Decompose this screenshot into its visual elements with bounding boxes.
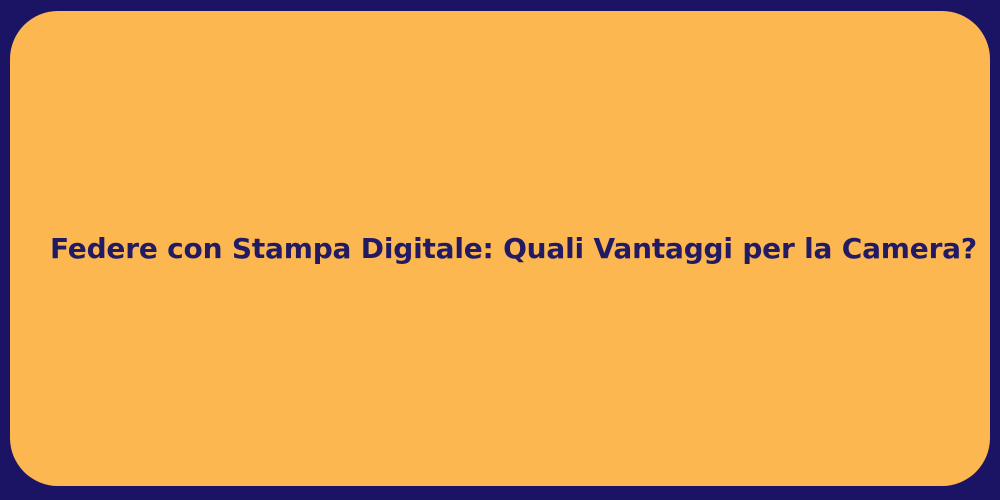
page-title: Federe con Stampa Digitale: Quali Vantag… (50, 232, 977, 266)
banner-frame: Federe con Stampa Digitale: Quali Vantag… (0, 0, 1000, 500)
banner-panel: Federe con Stampa Digitale: Quali Vantag… (10, 11, 990, 486)
title-block: Federe con Stampa Digitale: Quali Vantag… (10, 232, 990, 266)
